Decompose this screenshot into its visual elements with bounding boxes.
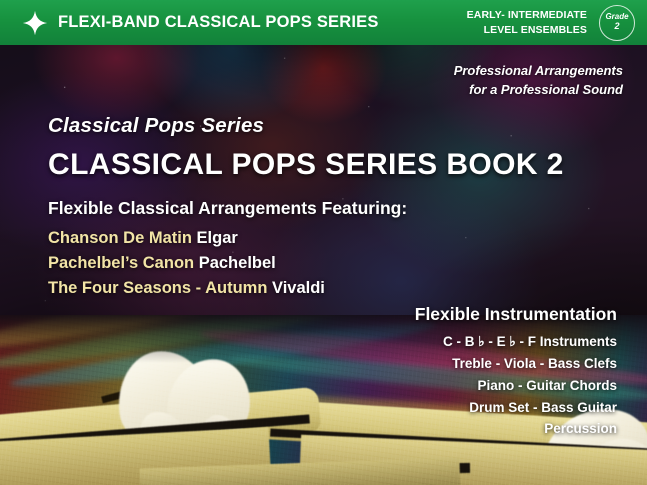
instrumentation-heading: Flexible Instrumentation xyxy=(415,304,617,325)
list-item: Treble - Viola - Bass Clefs xyxy=(443,353,617,375)
instrumentation-list: C - B ♭ - E ♭ - F Instruments Treble - V… xyxy=(443,331,617,440)
grade-badge-word: Grade xyxy=(605,13,628,21)
list-item: Chanson De Matin Elgar xyxy=(48,226,325,251)
ensemble-level-label: EARLY- INTERMEDIATE LEVEL ENSEMBLES xyxy=(467,8,587,36)
album-cover: FLEXI-BAND CLASSICAL POPS SERIES EARLY- … xyxy=(0,0,647,485)
list-item: The Four Seasons - Autumn Vivaldi xyxy=(48,276,325,301)
repertoire-composer: Pachelbel xyxy=(199,254,276,272)
page-title: CLASSICAL POPS SERIES BOOK 2 xyxy=(48,148,564,182)
list-item: Pachelbel’s Canon Pachelbel xyxy=(48,251,325,276)
repertoire-list: Chanson De Matin Elgar Pachelbel’s Canon… xyxy=(48,226,325,302)
repertoire-work-title: The Four Seasons - Autumn xyxy=(48,279,267,297)
repertoire-composer: Vivaldi xyxy=(272,279,325,297)
grade-badge-number: 2 xyxy=(614,21,619,32)
tagline-line-2: for a Professional Sound xyxy=(454,81,623,100)
ensemble-level-line-1: EARLY- INTERMEDIATE xyxy=(467,8,587,22)
series-title: FLEXI-BAND CLASSICAL POPS SERIES xyxy=(58,13,379,32)
featuring-heading: Flexible Classical Arrangements Featurin… xyxy=(48,198,407,219)
tagline-line-1: Professional Arrangements xyxy=(454,62,623,81)
series-kicker: Classical Pops Series xyxy=(48,114,264,138)
repertoire-work-title: Pachelbel’s Canon xyxy=(48,254,194,272)
repertoire-work-title: Chanson De Matin xyxy=(48,229,192,247)
tagline: Professional Arrangements for a Professi… xyxy=(454,62,623,100)
list-item: Piano - Guitar Chords xyxy=(443,375,617,397)
cover-content: Professional Arrangements for a Professi… xyxy=(0,0,647,485)
list-item: C - B ♭ - E ♭ - F Instruments xyxy=(443,331,617,353)
repertoire-composer: Elgar xyxy=(197,229,238,247)
grade-badge: Grade 2 xyxy=(599,5,635,41)
list-item: Percussion xyxy=(443,418,617,440)
four-point-star-icon xyxy=(22,10,48,36)
list-item: Drum Set - Bass Guitar xyxy=(443,397,617,419)
ensemble-level-line-2: LEVEL ENSEMBLES xyxy=(467,23,587,37)
series-header-bar: FLEXI-BAND CLASSICAL POPS SERIES EARLY- … xyxy=(0,0,647,45)
